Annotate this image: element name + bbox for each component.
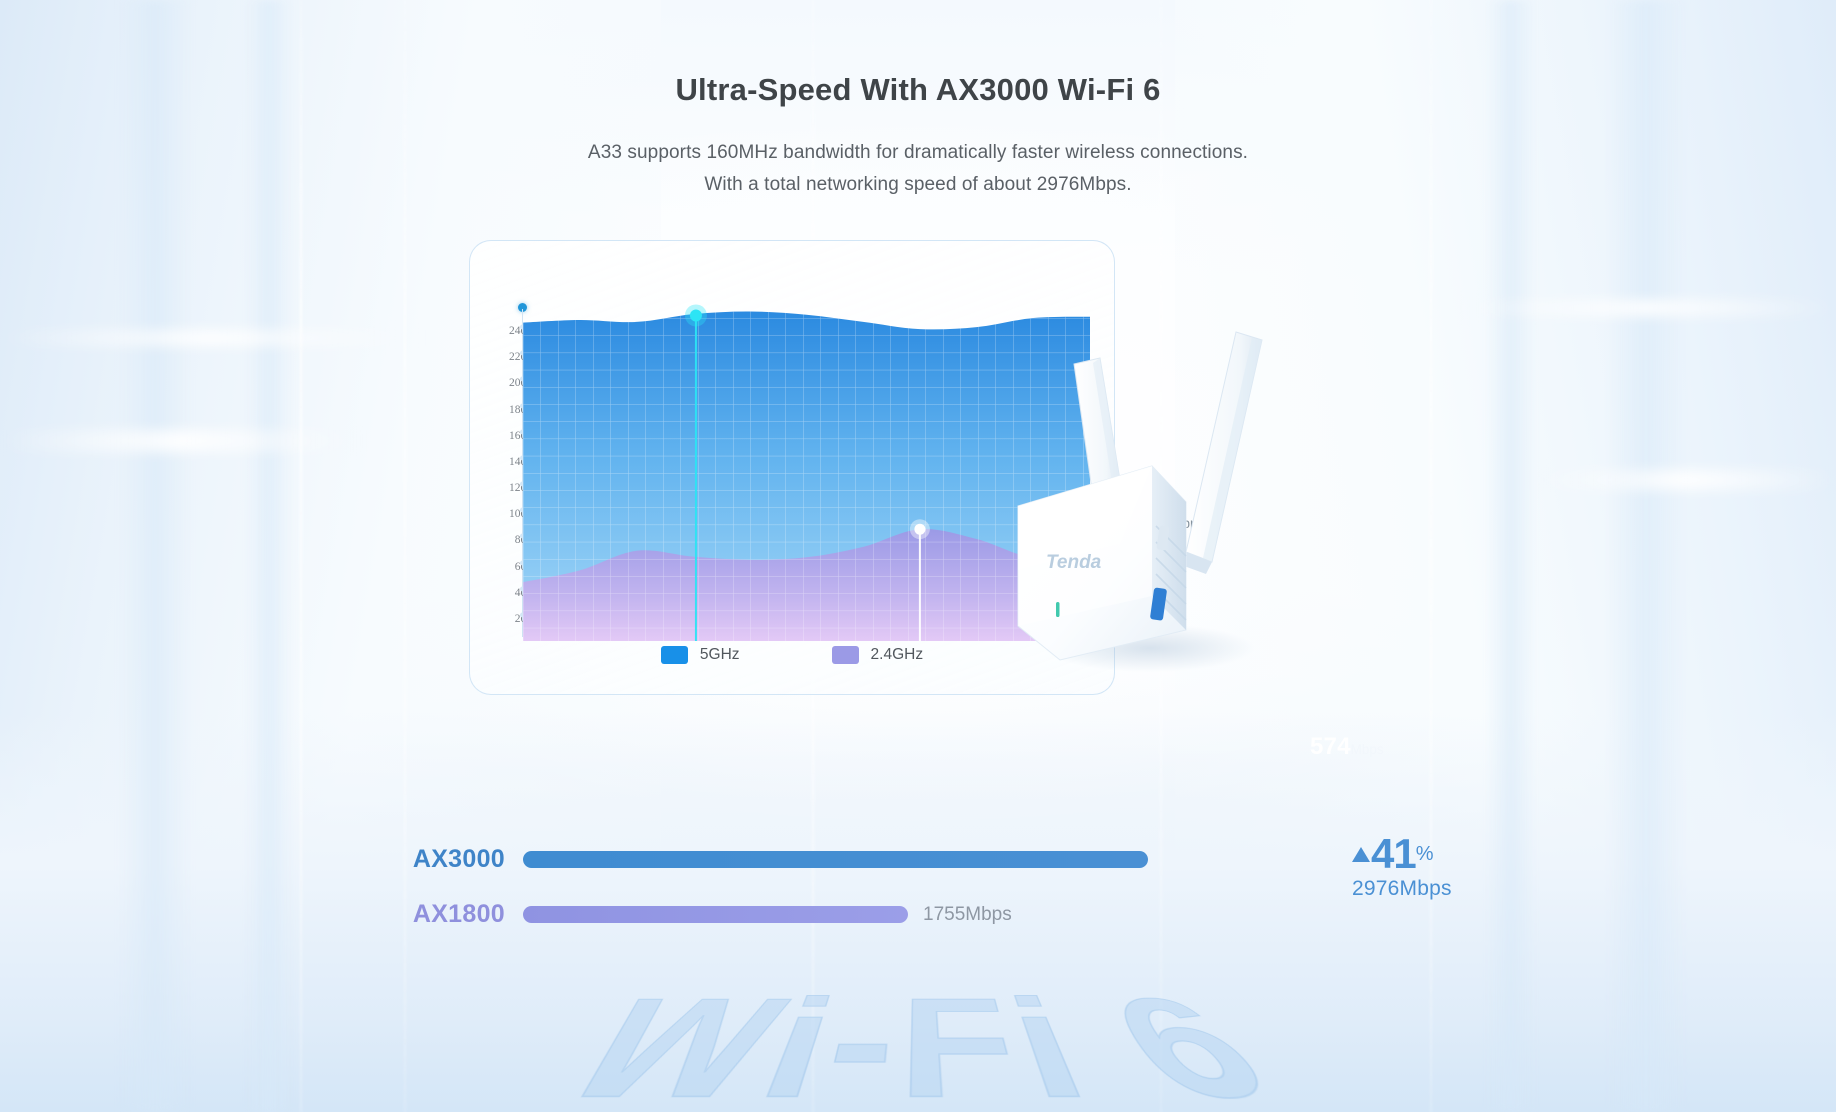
device-body: Tenda [1018, 466, 1186, 660]
light-streak [1536, 470, 1836, 490]
subtitle-line-2: With a total networking speed of about 2… [0, 174, 1836, 196]
router-device-image: Tenda [1000, 330, 1340, 690]
light-streak [0, 330, 420, 346]
legend-item-24ghz[interactable]: 2.4GHz [832, 646, 924, 664]
marker-dot-24ghz [914, 524, 925, 535]
comparison-bar-ax1800 [523, 906, 908, 923]
gain-percent-value: 41 [1371, 830, 1416, 877]
legend-item-5ghz[interactable]: 5GHz [661, 646, 740, 664]
header: Ultra-Speed With AX3000 Wi-Fi 6 A33 supp… [0, 72, 1836, 196]
device-brand-logo: Tenda [1046, 552, 1102, 573]
legend-swatch-5ghz [661, 646, 688, 664]
total-speed-value: 2976Mbps [1352, 877, 1452, 901]
comparison-row-ax1800: AX1800 1755Mbps [0, 900, 1012, 929]
wifi6-watermark: Wi-Fi 6 [0, 988, 1836, 1112]
comparison-label-ax1800: AX1800 [0, 900, 505, 929]
light-streak [0, 430, 360, 452]
light-streak [1456, 300, 1836, 316]
antenna-right [1184, 332, 1262, 574]
comparison-row-ax3000: AX3000 [0, 845, 1148, 874]
legend-label-5ghz: 5GHz [700, 646, 740, 664]
antenna-left [1074, 358, 1120, 490]
gain-percent: 41% [1352, 833, 1452, 875]
led-indicator [1056, 602, 1060, 617]
subtitle-line-1: A33 supports 160MHz bandwidth for dramat… [0, 142, 1836, 164]
marker-dot-5ghz [690, 309, 702, 321]
comparison-value-ax1800: 1755Mbps [923, 904, 1012, 926]
speed-comparison: AX3000 AX1800 1755Mbps 41% 2976Mbps [0, 845, 1836, 985]
marker-value-24ghz: 574 [1310, 733, 1351, 760]
legend-label-24ghz: 2.4GHz [871, 646, 924, 664]
marker-label-24ghz: 574Mbps [1310, 733, 1384, 761]
gain-stat-block: 41% 2976Mbps [1352, 833, 1452, 901]
percent-symbol: % [1416, 843, 1434, 865]
up-triangle-icon [1352, 847, 1370, 862]
legend-swatch-24ghz [832, 646, 859, 664]
page-title: Ultra-Speed With AX3000 Wi-Fi 6 [0, 72, 1836, 108]
comparison-bar-ax3000 [523, 851, 1148, 868]
marker-unit-24ghz: Mbps [1351, 742, 1384, 757]
comparison-label-ax3000: AX3000 [0, 845, 505, 874]
